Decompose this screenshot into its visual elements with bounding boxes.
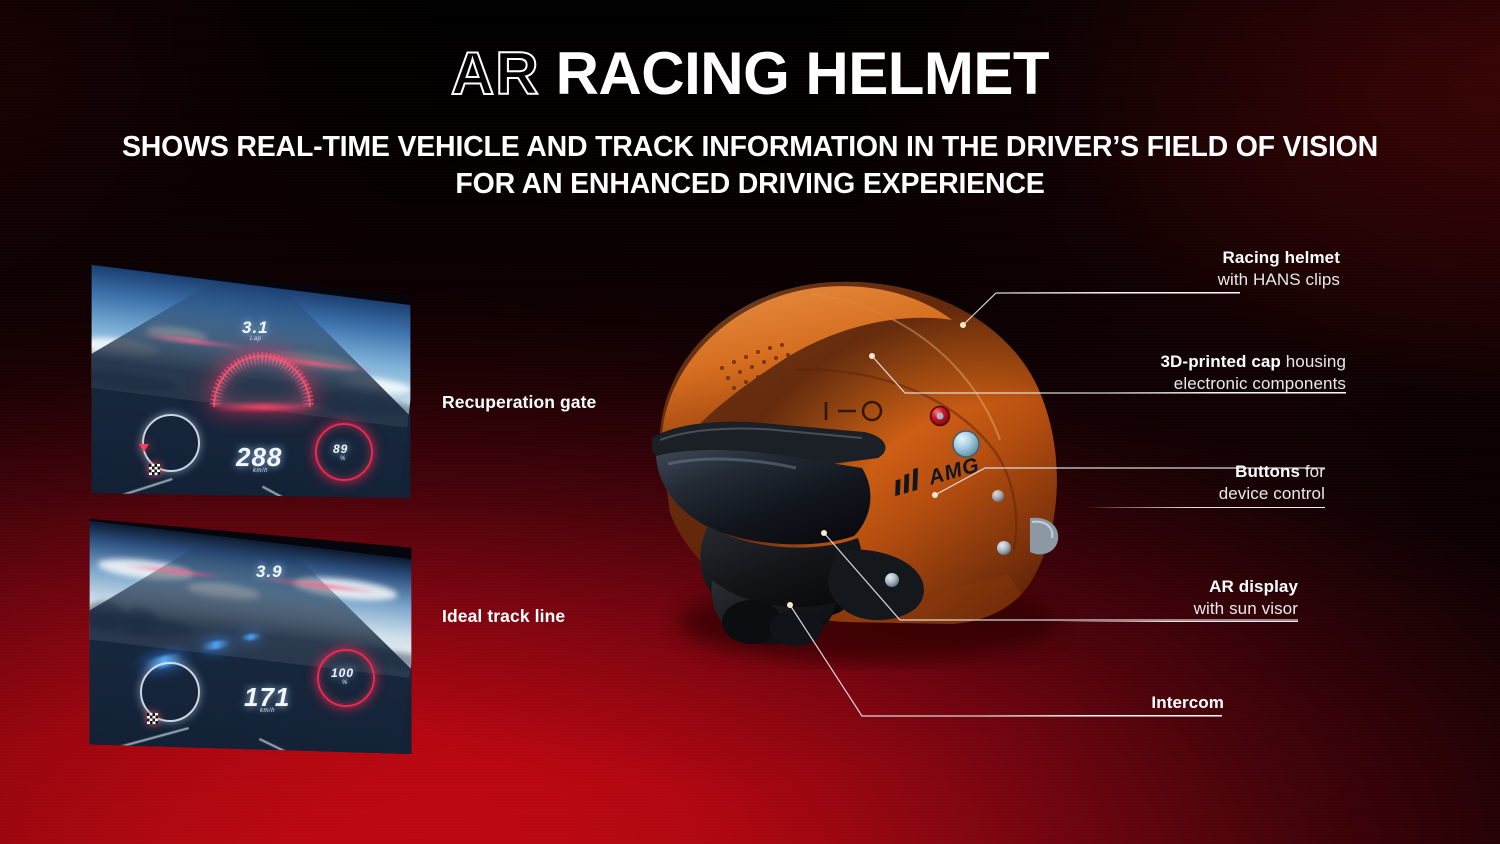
recuperation-gate-arc-base: [202, 404, 324, 410]
label-racing-helmet-bold: Racing helmet: [1223, 248, 1341, 267]
label-buttons-rest: for: [1300, 462, 1325, 481]
label-3d-printed-cap-line2: electronic components: [1174, 374, 1346, 393]
page-title: ARRACING HELMET: [0, 44, 1500, 104]
rule-intercom: [982, 715, 1222, 716]
label-buttons-bold: Buttons: [1235, 462, 1300, 481]
helmet-record-button-center: [937, 413, 944, 420]
label-ar-display-line2: with sun visor: [1194, 599, 1298, 618]
helmet-control-button[interactable]: [953, 431, 979, 457]
label-ideal-track-line: Ideal track line: [442, 606, 565, 627]
label-buttons-line2: device control: [1219, 484, 1325, 503]
label-ar-display-bold: AR display: [1209, 577, 1298, 596]
page-subtitle: SHOWS REAL-TIME VEHICLE AND TRACK INFORM…: [120, 129, 1380, 203]
label-3d-printed-cap-bold: 3D-printed cap: [1161, 352, 1281, 371]
page-subtitle-line2: FOR AN ENHANCED DRIVING EXPERIENCE: [120, 166, 1380, 203]
page-title-main: RACING HELMET: [556, 40, 1049, 107]
label-recuperation-gate: Recuperation gate: [442, 392, 596, 413]
helmet-snap-fastener: [885, 573, 899, 587]
hud-screen-ideal-track-line: [88, 514, 413, 754]
label-3d-printed-cap-rest: housing: [1281, 352, 1346, 371]
hud-left-ring-marker: [139, 444, 149, 452]
label-3d-printed-cap: 3D-printed cap housing electronic compon…: [926, 351, 1346, 395]
hud-checkered-flag-icon: [147, 713, 158, 724]
hud-right-ring-1: [315, 423, 373, 481]
label-racing-helmet-line2: with HANS clips: [1218, 270, 1340, 289]
rule-racing-helmet: [1000, 292, 1240, 293]
page-subtitle-line1: SHOWS REAL-TIME VEHICLE AND TRACK INFORM…: [122, 131, 1378, 163]
label-ar-display: AR display with sun visor: [958, 576, 1298, 620]
label-intercom-bold: Intercom: [1151, 693, 1224, 712]
rule-buttons: [1085, 507, 1325, 508]
label-buttons: Buttons for device control: [985, 461, 1325, 505]
hud-right-ring-2: [317, 649, 375, 707]
hud-checkered-flag-icon: [149, 464, 160, 475]
infographic-root: ARRACING HELMET SHOWS REAL-TIME VEHICLE …: [0, 0, 1500, 844]
page-title-prefix: AR: [451, 40, 540, 107]
helmet-snap-fastener: [997, 541, 1011, 555]
label-racing-helmet: Racing helmet with HANS clips: [1020, 247, 1340, 291]
rule-3d-printed-cap: [1106, 392, 1346, 393]
rule-ar-display: [1058, 621, 1298, 622]
helmet-intercom-module: [770, 610, 822, 646]
hud-screen-recuperation-gate: 3.1: [90, 256, 412, 498]
label-intercom: Intercom: [924, 692, 1224, 714]
